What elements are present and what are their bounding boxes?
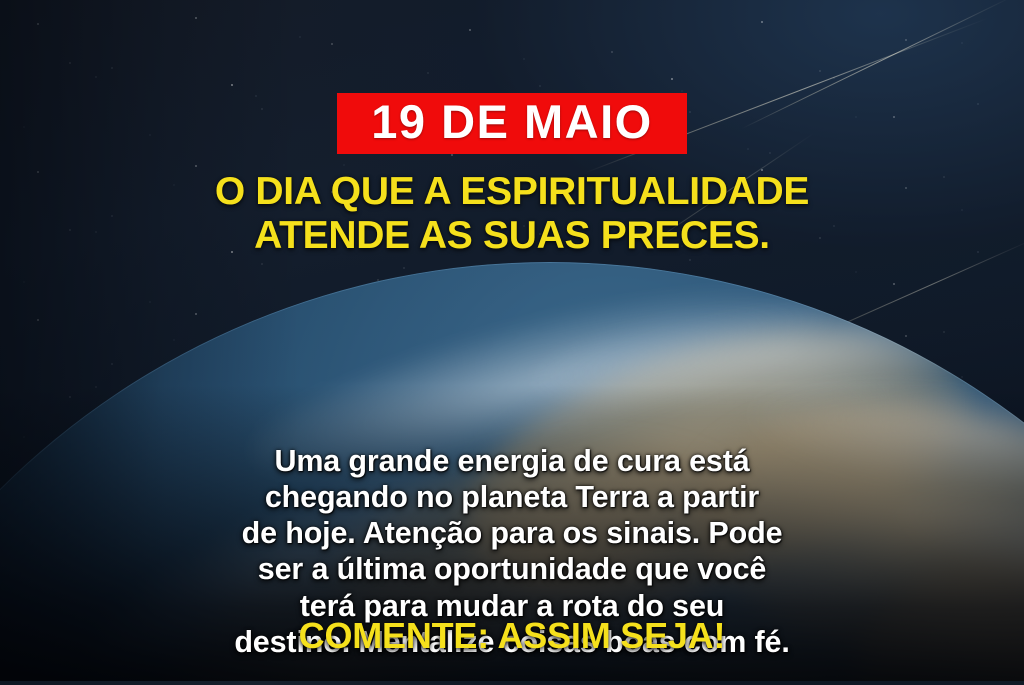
headline-line-2: ATENDE AS SUAS PRECES. xyxy=(215,214,809,258)
date-banner: 19 DE MAIO xyxy=(337,93,686,154)
headline: O DIA QUE A ESPIRITUALIDADE ATENDE AS SU… xyxy=(175,170,849,258)
poster-canvas: 19 DE MAIO O DIA QUE A ESPIRITUALIDADE A… xyxy=(0,0,1024,685)
headline-line-1: O DIA QUE A ESPIRITUALIDADE xyxy=(215,170,809,214)
date-banner-label: 19 DE MAIO xyxy=(371,98,652,145)
body-line-4: ser a última oportunidade que você xyxy=(56,551,968,587)
body-line-3: de hoje. Atenção para os sinais. Pode xyxy=(56,515,968,551)
poster-content: 19 DE MAIO O DIA QUE A ESPIRITUALIDADE A… xyxy=(0,0,1024,685)
body-line-2: chegando no planeta Terra a partir xyxy=(56,479,968,515)
body-line-1: Uma grande energia de cura está xyxy=(56,443,968,479)
call-to-action-text: COMENTE: ASSIM SEJA! xyxy=(0,615,1024,657)
